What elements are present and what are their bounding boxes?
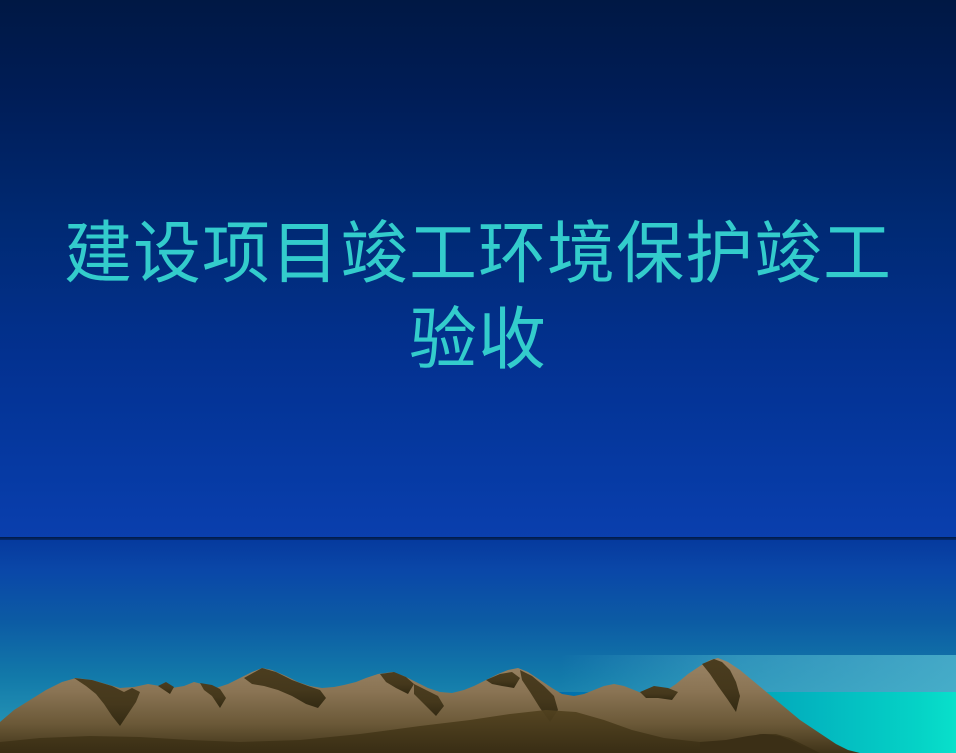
slide-canvas: 建设项目竣工环境保护竣工验收 [0,0,956,753]
page-title: 建设项目竣工环境保护竣工验收 [48,212,908,384]
mountain-silhouette [0,630,956,753]
